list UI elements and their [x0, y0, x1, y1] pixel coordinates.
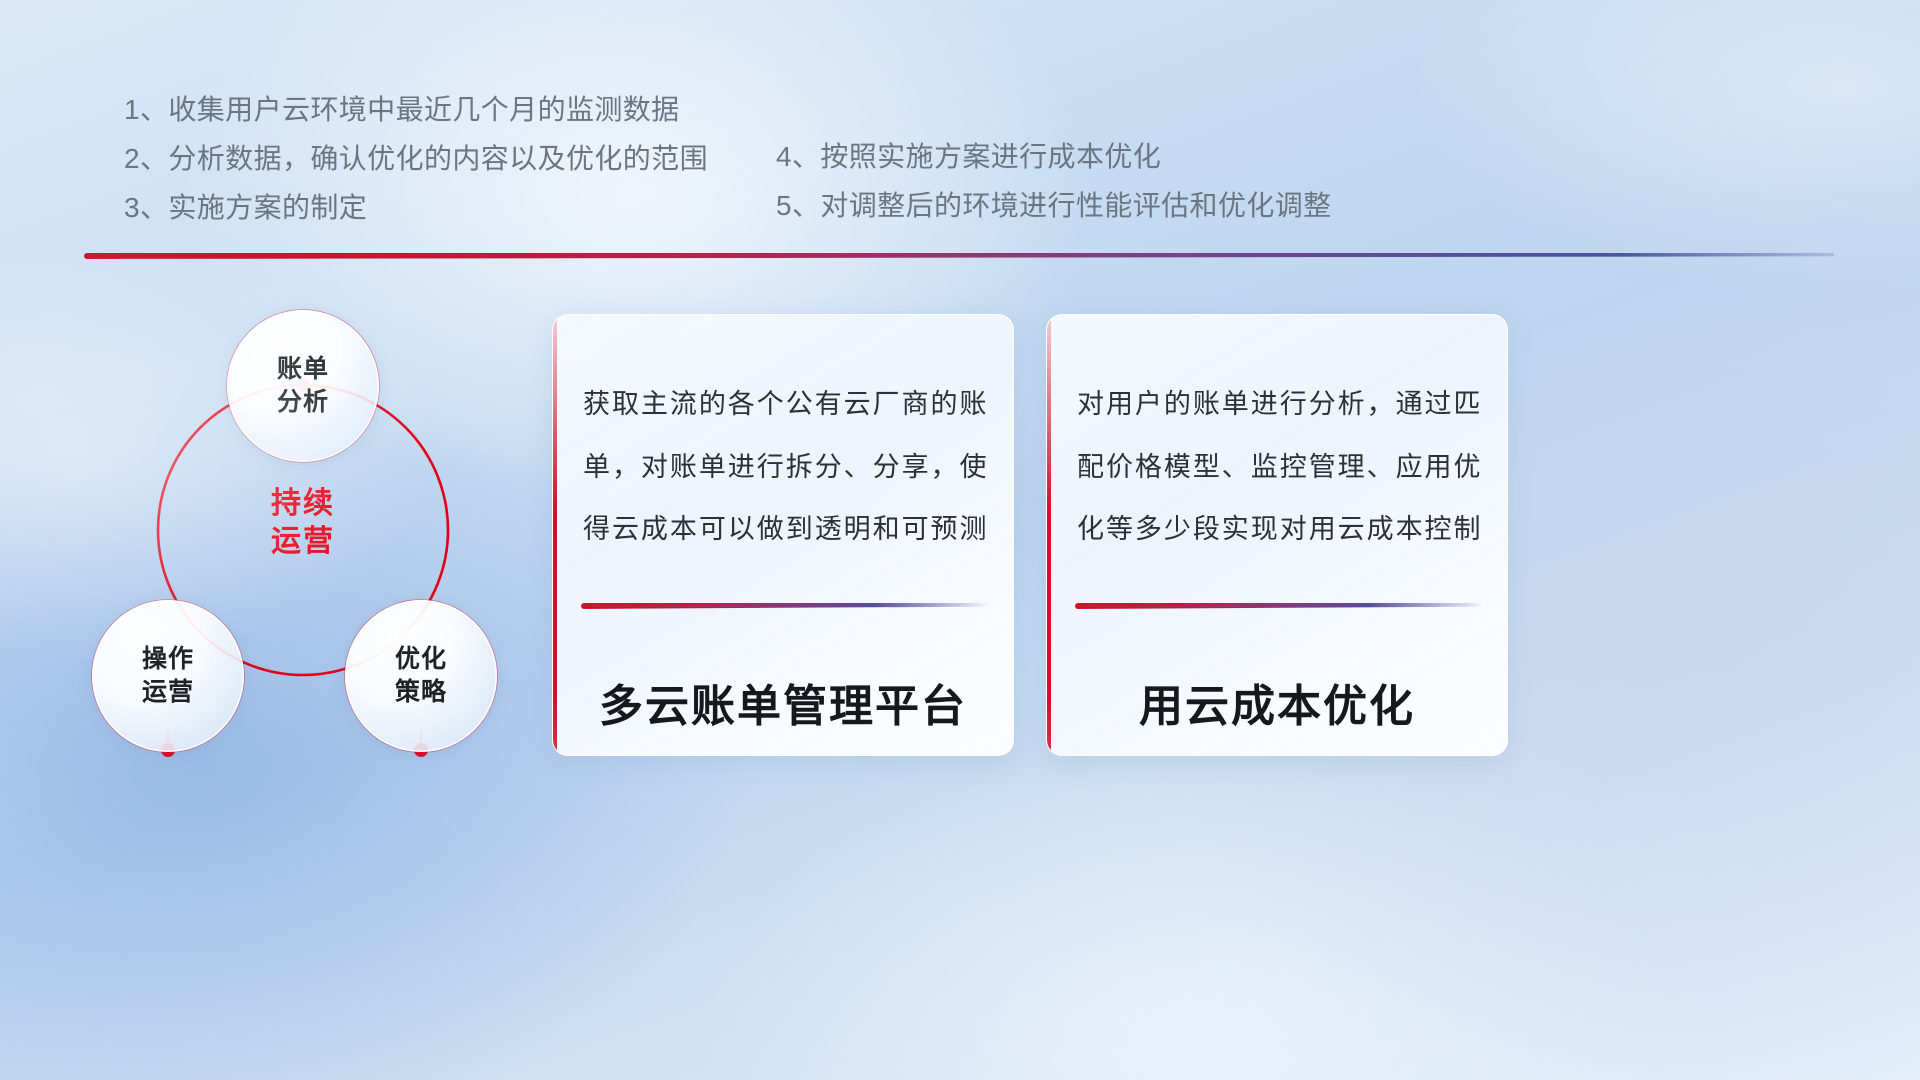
slide-canvas: 1、收集用户云环境中最近几个月的监测数据 2、分析数据，确认优化的内容以及优化的… [0, 0, 1920, 1080]
step-item-5: 5、对调整后的环境进行性能评估和优化调整 [776, 192, 1332, 220]
bubble-label-operations: 操作运营 [142, 643, 194, 709]
step-item-4: 4、按照实施方案进行成本优化 [776, 143, 1332, 171]
bubble-label-line2: 运营 [142, 678, 194, 706]
step-item-3: 3、实施方案的制定 [124, 194, 708, 222]
steps-left-column: 1、收集用户云环境中最近几个月的监测数据 2、分析数据，确认优化的内容以及优化的… [124, 96, 708, 243]
bubble-label-optimization: 优化策略 [395, 643, 447, 709]
center-label-line2: 运营 [228, 523, 378, 561]
card-accent-rule [1075, 603, 1483, 609]
diagram-center-label: 持续 运营 [228, 485, 378, 562]
card-title: 多云账单管理平台 [553, 670, 1013, 734]
card-cloud-cost-optimization[interactable]: 对用户的账单进行分析，通过匹配价格模型、监控管理、应用优化等多少段实现对用云成本… [1046, 314, 1508, 756]
diagram-bubble-operations[interactable]: 操作运营 [92, 600, 244, 752]
card-accent-rule [581, 603, 989, 609]
center-label-line1: 持续 [228, 485, 378, 523]
bubble-label-line1: 操作 [142, 645, 194, 673]
bubble-label-line1: 账单 [277, 355, 329, 383]
bubble-label-line1: 优化 [395, 645, 447, 673]
bubble-label-line2: 分析 [277, 388, 329, 416]
card-body-text: 获取主流的各个公有云厂商的账单，对账单进行拆分、分享，使得云成本可以做到透明和可… [583, 373, 987, 561]
step-item-2: 2、分析数据，确认优化的内容以及优化的范围 [124, 145, 708, 173]
steps-list: 1、收集用户云环境中最近几个月的监测数据 2、分析数据，确认优化的内容以及优化的… [0, 96, 1920, 243]
steps-right-column: 4、按照实施方案进行成本优化 5、对调整后的环境进行性能评估和优化调整 [776, 96, 1332, 241]
diagram-bubble-optimization[interactable]: 优化策略 [345, 600, 497, 752]
bubble-label-bill-analysis: 账单分析 [277, 353, 329, 419]
card-multi-cloud-billing-platform[interactable]: 获取主流的各个公有云厂商的账单，对账单进行拆分、分享，使得云成本可以做到透明和可… [552, 314, 1014, 756]
step-item-1: 1、收集用户云环境中最近几个月的监测数据 [124, 96, 708, 124]
bubble-label-line2: 策略 [395, 678, 447, 706]
card-title: 用云成本优化 [1047, 670, 1507, 734]
diagram-bubble-bill-analysis[interactable]: 账单分析 [227, 310, 379, 462]
section-divider [84, 253, 1834, 259]
card-body-text: 对用户的账单进行分析，通过匹配价格模型、监控管理、应用优化等多少段实现对用云成本… [1077, 373, 1481, 561]
continuous-operation-diagram: 账单分析 操作运营 优化策略 持续 运营 [80, 290, 550, 770]
